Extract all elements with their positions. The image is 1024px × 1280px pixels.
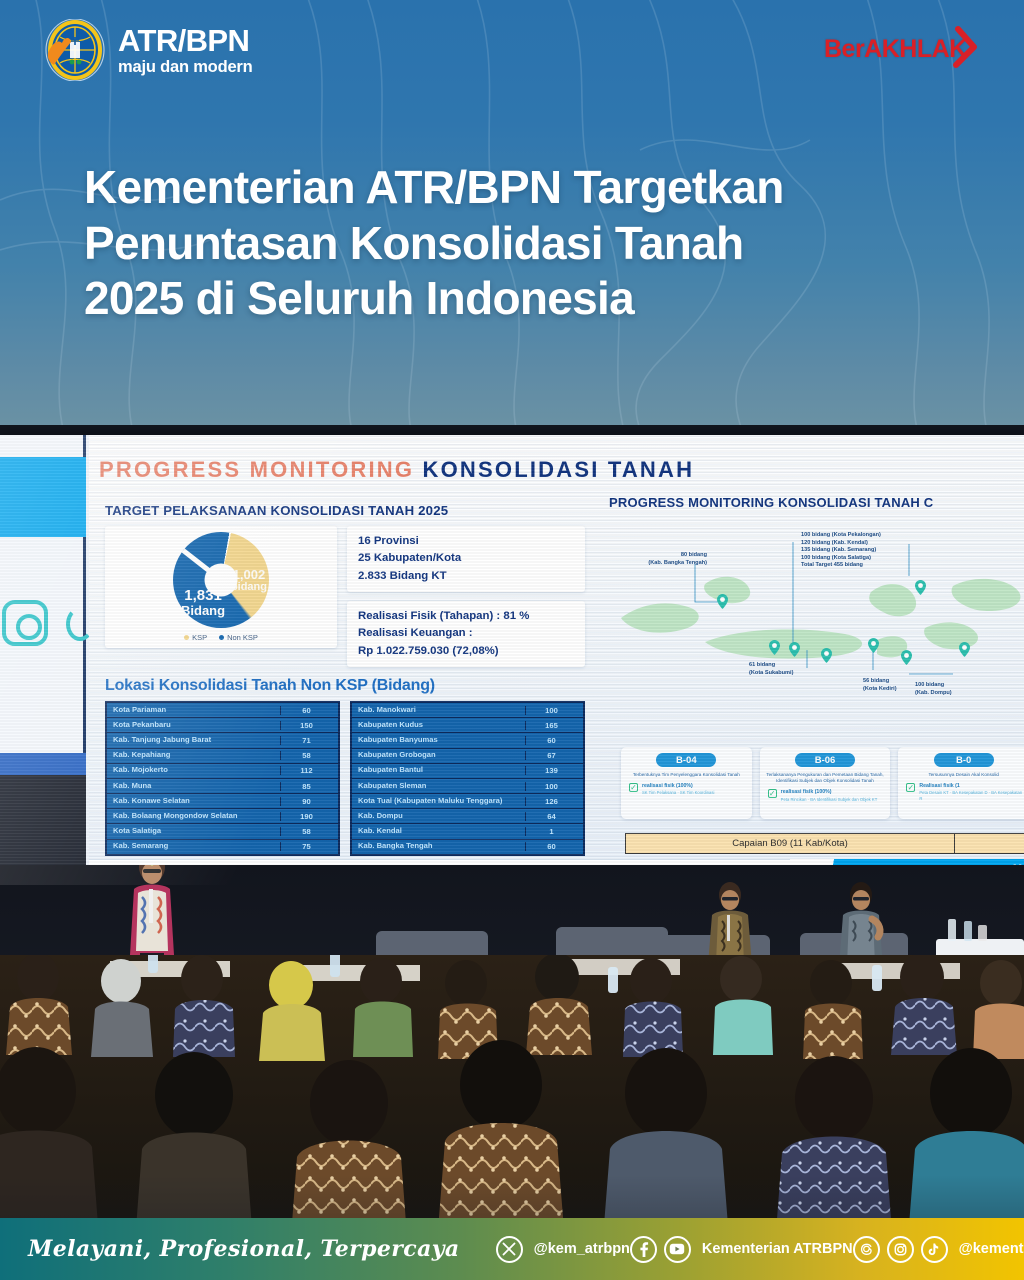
milestone-realisasi-label: realisasi fisik (100%)SK Tim Pelaksana ·… bbox=[642, 783, 714, 796]
target-summary-row: 1,831 Bidang 1,002 bidang KSP Non bbox=[105, 526, 585, 667]
map-callout-line: 56 bidang bbox=[863, 678, 897, 686]
legend-non-ksp: Non KSP bbox=[219, 633, 258, 642]
info-card-realisasi: Realisasi Fisik (Tahapan) : 81 % Realisa… bbox=[347, 601, 585, 667]
table-row: Kabupaten Banyumas60 bbox=[352, 733, 583, 748]
chevron-right-icon bbox=[952, 25, 980, 71]
table-row: Kota Salatiga58 bbox=[107, 824, 338, 839]
map-callout-4: 100 bidang(Kab. Dompu) bbox=[915, 682, 952, 697]
table-row: Kab. Tanjung Jabung Barat71 bbox=[107, 733, 338, 748]
table-cell-value: 139 bbox=[525, 766, 577, 775]
brand-logo: ATR/BPN maju dan modern bbox=[44, 19, 253, 81]
slide-title-part2: KONSOLIDASI TANAH bbox=[423, 457, 695, 482]
table-cell-value: 90 bbox=[280, 797, 332, 806]
page-title: Kementerian ATR/BPN Targetkan Penuntasan… bbox=[84, 160, 964, 327]
coverage-line-2: 25 Kabupaten/Kota bbox=[358, 550, 574, 567]
table-cell-value: 126 bbox=[525, 797, 577, 806]
headline-line-2: Penuntasan Konsolidasi Tanah bbox=[84, 216, 964, 272]
table-row: Kota Tual (Kabupaten Maluku Tenggara)126 bbox=[352, 794, 583, 809]
headline-line-3: 2025 di Seluruh Indonesia bbox=[84, 271, 964, 327]
brand-subtitle: maju dan modern bbox=[118, 59, 253, 76]
target-info-column: 16 Provinsi 25 Kabupaten/Kota 2.833 Bida… bbox=[347, 526, 585, 667]
table-cell-name: Kab. Kendal bbox=[358, 827, 525, 836]
map-callout-line: 61 bidang bbox=[749, 662, 793, 670]
milestone-description: Terlaksananya Pengukuran dan Pemetaan Bi… bbox=[765, 772, 886, 784]
map-callout-line: 100 bidang bbox=[915, 682, 952, 690]
table-cell-name: Kab. Semarang bbox=[113, 842, 280, 851]
table-cell-name: Kota Salatiga bbox=[113, 827, 280, 836]
table-cell-value: 67 bbox=[525, 751, 577, 760]
slide-content: PROGRESS MONITORING KONSOLIDASI TANAH TA… bbox=[89, 435, 1024, 885]
lokasi-table-title: Lokasi Konsolidasi Tanah Non KSP (Bidang… bbox=[105, 677, 585, 695]
table-cell-value: 71 bbox=[280, 736, 332, 745]
lokasi-table-right: Kab. Manokwari100Kabupaten Kudus165Kabup… bbox=[350, 701, 585, 856]
x-handle[interactable]: @kem_atrbpn bbox=[534, 1241, 630, 1257]
table-row: Kab. Dompu64 bbox=[352, 809, 583, 824]
facebook-icon[interactable] bbox=[630, 1236, 657, 1263]
capaian-bar: Capaian B09 (11 Kab/Kota) bbox=[625, 833, 1024, 854]
realisasi-line-1: Realisasi Fisik (Tahapan) : 81 % bbox=[358, 608, 574, 625]
donut-label-nonksp: 1,831 Bidang bbox=[181, 588, 225, 617]
hero-section: ATR/BPN maju dan modern BerAKHLAK Kement… bbox=[0, 0, 1024, 430]
map-panel-title: PROGRESS MONITORING KONSOLIDASI TANAH C bbox=[609, 495, 1024, 510]
brand-title: ATR/BPN bbox=[118, 25, 253, 56]
capaian-box-extra bbox=[955, 833, 1024, 854]
table-row: Kota Pariaman60 bbox=[107, 703, 338, 718]
table-row: Kab. Bangka Tengah60 bbox=[352, 840, 583, 854]
table-cell-name: Kabupaten Grobogan bbox=[358, 751, 525, 760]
table-cell-name: Kab. Konawe Selatan bbox=[113, 797, 280, 806]
social-group-meta: Kementerian ATRBPN bbox=[630, 1236, 853, 1263]
check-icon: ✓ bbox=[629, 783, 638, 792]
donut-chart-card: 1,831 Bidang 1,002 bidang KSP Non bbox=[105, 526, 337, 648]
milestone-status-row: ✓Realisasi fisik (1Peta Desain KT · BA K… bbox=[903, 783, 1024, 802]
milestone-description: Tersusunnya Desain Akal Konsolid bbox=[903, 772, 1024, 778]
milestone-code-chip: B-0 bbox=[934, 753, 994, 767]
social-group-x: @kem_atrbpn bbox=[496, 1236, 630, 1263]
berakhlak-logo: BerAKHLAK bbox=[824, 27, 984, 73]
table-cell-value: 150 bbox=[280, 721, 332, 730]
table-cell-name: Kabupaten Sleman bbox=[358, 782, 525, 791]
map-callout-line: (Kab. Bangka Tengah) bbox=[611, 560, 707, 568]
milestone-realisasi-label: Realisasi fisik (1Peta Desain KT · BA Ke… bbox=[919, 783, 1024, 802]
audience-area bbox=[0, 955, 1024, 1225]
table-cell-value: 100 bbox=[525, 782, 577, 791]
table-cell-name: Kab. Bangka Tengah bbox=[358, 842, 525, 851]
instagram-icon[interactable] bbox=[887, 1236, 914, 1263]
map-callout-2: 61 bidang(Kota Sukabumi) bbox=[749, 662, 793, 677]
lokasi-table-left: Kota Pariaman60Kota Pekanbaru150Kab. Tan… bbox=[105, 701, 340, 856]
donut-unit-ksp: bidang bbox=[231, 581, 267, 593]
headline-line-1: Kementerian ATR/BPN Targetkan bbox=[84, 160, 964, 216]
table-row: Kabupaten Kudus165 bbox=[352, 718, 583, 733]
milestone-code-chip: B-06 bbox=[795, 753, 855, 767]
map-callout-line: 100 bidang (Kota Pekalongan) bbox=[801, 532, 881, 540]
table-row: Kab. Kepahiang58 bbox=[107, 749, 338, 764]
table-cell-value: 60 bbox=[525, 736, 577, 745]
footer-tagline: Melayani, Profesional, Terpercaya bbox=[28, 1236, 460, 1262]
coverage-line-1: 16 Provinsi bbox=[358, 533, 574, 550]
table-cell-value: 75 bbox=[280, 842, 332, 851]
table-row: Kab. Muna85 bbox=[107, 779, 338, 794]
coverage-line-3: 2.833 Bidang KT bbox=[358, 568, 574, 585]
table-row: Kabupaten Bantul139 bbox=[352, 764, 583, 779]
table-cell-value: 58 bbox=[280, 751, 332, 760]
realisasi-line-2: Realisasi Keuangan : bbox=[358, 625, 574, 642]
milestone-card: B-06Terlaksananya Pengukuran dan Pemetaa… bbox=[760, 747, 891, 819]
milestone-card: B-04Terbentuknya Tim Penyelenggara Konso… bbox=[621, 747, 752, 819]
milestone-status-row: ✓realisasi fisik (100%)SK Tim Pelaksana … bbox=[626, 783, 747, 796]
map-callout-line: 120 bidang (Kab. Kendal) bbox=[801, 540, 881, 548]
table-row: Kab. Semarang75 bbox=[107, 840, 338, 854]
slide-title-part1: PROGRESS MONITORING bbox=[99, 457, 423, 482]
map-callout-line: Total Target 455 bidang bbox=[801, 562, 881, 570]
milestone-sub-items: Peta Desain KT · BA Kesepakatan D · BA K… bbox=[919, 790, 1024, 802]
table-cell-name: Kab. Kepahiang bbox=[113, 751, 280, 760]
donut-value-ksp: 1,002 bbox=[231, 568, 267, 582]
table-row: Kab. Kendal1 bbox=[352, 824, 583, 839]
table-row: Kabupaten Sleman100 bbox=[352, 779, 583, 794]
map-callout-0: 80 bidang(Kab. Bangka Tengah) bbox=[611, 552, 707, 567]
check-icon: ✓ bbox=[906, 783, 915, 792]
milestone-card: B-0Tersusunnya Desain Akal Konsolid✓Real… bbox=[898, 747, 1024, 819]
table-row: Kab. Konawe Selatan90 bbox=[107, 794, 338, 809]
milestone-sub-items: SK Tim Pelaksana · SK Tim Koordinasi bbox=[642, 790, 714, 796]
table-cell-value: 64 bbox=[525, 812, 577, 821]
table-cell-name: Kab. Dompu bbox=[358, 812, 525, 821]
event-photo: PROGRESS MONITORING KONSOLIDASI TANAH TA… bbox=[0, 425, 1024, 1225]
milestone-description: Terbentuknya Tim Penyelenggara Konsolida… bbox=[626, 772, 747, 778]
site-header: ATR/BPN maju dan modern BerAKHLAK bbox=[0, 0, 1024, 100]
water-bottles-right bbox=[946, 915, 990, 943]
milestone-status-row: ✓realisasi fisik (100%)Peta Rincikan · B… bbox=[765, 789, 886, 802]
milestone-realisasi-label: realisasi fisik (100%)Peta Rincikan · BA… bbox=[781, 789, 878, 802]
table-cell-name: Kabupaten Bantul bbox=[358, 766, 525, 775]
projection-screen: PROGRESS MONITORING KONSOLIDASI TANAH TA… bbox=[0, 435, 1024, 885]
poster-canvas: ATR/BPN maju dan modern BerAKHLAK Kement… bbox=[0, 0, 1024, 1280]
table-row: Kabupaten Grobogan67 bbox=[352, 749, 583, 764]
adjacent-slide-edge bbox=[0, 435, 86, 885]
table-row: Kab. Mojokerto112 bbox=[107, 764, 338, 779]
sliver-band-bottom bbox=[0, 753, 86, 775]
table-cell-value: 58 bbox=[280, 827, 332, 836]
slide-right-column: PROGRESS MONITORING KONSOLIDASI TANAH C bbox=[609, 495, 1024, 727]
site-footer: Melayani, Profesional, Terpercaya @kem_a… bbox=[0, 1218, 1024, 1280]
slide-title: PROGRESS MONITORING KONSOLIDASI TANAH bbox=[99, 457, 999, 483]
threads-icon[interactable] bbox=[853, 1236, 880, 1263]
instagram-icon bbox=[2, 600, 48, 646]
donut-label-ksp: 1,002 bidang bbox=[231, 568, 267, 593]
map-callout-1: 100 bidang (Kota Pekalongan)120 bidang (… bbox=[801, 532, 881, 570]
table-cell-value: 1 bbox=[525, 827, 577, 836]
map-callout-line: (Kota Kediri) bbox=[863, 686, 897, 694]
info-card-coverage: 16 Provinsi 25 Kabupaten/Kota 2.833 Bida… bbox=[347, 526, 585, 592]
table-cell-name: Kab. Bolaang Mongondow Selatan bbox=[113, 812, 280, 821]
map-callout-line: 135 bidang (Kab. Semarang) bbox=[801, 547, 881, 555]
map-callout-line: 80 bidang bbox=[611, 552, 707, 560]
table-cell-name: Kab. Tanjung Jabung Barat bbox=[113, 736, 280, 745]
donut-value-nonksp: 1,831 bbox=[181, 588, 225, 604]
map-callout-line: (Kota Sukabumi) bbox=[749, 670, 793, 678]
table-cell-value: 112 bbox=[280, 766, 332, 775]
donut-chart: 1,831 Bidang 1,002 bidang bbox=[173, 532, 269, 628]
table-cell-value: 100 bbox=[525, 706, 577, 715]
table-cell-value: 190 bbox=[280, 812, 332, 821]
berakhlak-label: BerAKHLAK bbox=[824, 35, 967, 64]
table-cell-value: 60 bbox=[280, 706, 332, 715]
target-section-title: TARGET PELAKSANAAN KONSOLIDASI TANAH 202… bbox=[105, 503, 585, 518]
table-row: Kab. Bolaang Mongondow Selatan190 bbox=[107, 809, 338, 824]
donut-unit-nonksp: Bidang bbox=[181, 603, 225, 618]
x-twitter-icon[interactable] bbox=[496, 1236, 523, 1263]
table-row: Kab. Manokwari100 bbox=[352, 703, 583, 718]
lokasi-tables: Kota Pariaman60Kota Pekanbaru150Kab. Tan… bbox=[105, 701, 585, 856]
table-cell-name: Kab. Mojokerto bbox=[113, 766, 280, 775]
table-cell-name: Kab. Manokwari bbox=[358, 706, 525, 715]
meta-handle[interactable]: Kementerian ATRBPN bbox=[702, 1241, 853, 1257]
atr-bpn-emblem-icon bbox=[44, 19, 106, 81]
check-icon: ✓ bbox=[768, 789, 777, 798]
indonesia-map: 80 bidang(Kab. Bangka Tengah) 100 bidang… bbox=[609, 522, 1024, 727]
table-cell-value: 165 bbox=[525, 721, 577, 730]
milestone-sub-items: Peta Rincikan · BA Identifikasi Subjek d… bbox=[781, 797, 878, 803]
table-row: Kota Pekanbaru150 bbox=[107, 718, 338, 733]
table-cell-name: Kabupaten Kudus bbox=[358, 721, 525, 730]
slide-left-column: TARGET PELAKSANAAN KONSOLIDASI TANAH 202… bbox=[105, 503, 585, 856]
legend-ksp: KSP bbox=[184, 633, 207, 642]
table-cell-value: 85 bbox=[280, 782, 332, 791]
table-cell-name: Kota Pariaman bbox=[113, 706, 280, 715]
youtube-icon[interactable] bbox=[664, 1236, 691, 1263]
milestone-code-chip: B-04 bbox=[656, 753, 716, 767]
table-cell-name: Kota Pekanbaru bbox=[113, 721, 280, 730]
map-callout-line: (Kab. Dompu) bbox=[915, 690, 952, 698]
realisasi-line-3: Rp 1.022.759.030 (72,08%) bbox=[358, 643, 574, 660]
map-callout-line: 100 bidang (Kota Salatiga) bbox=[801, 555, 881, 563]
social-group-misc: @kementerian.atrbpn bbox=[853, 1236, 1024, 1263]
donut-legend: KSP Non KSP bbox=[184, 633, 258, 642]
table-cell-name: Kabupaten Banyumas bbox=[358, 736, 525, 745]
tiktok-handle[interactable]: @kementerian.atrbpn bbox=[959, 1241, 1024, 1257]
table-cell-name: Kab. Muna bbox=[113, 782, 280, 791]
sliver-band-top bbox=[0, 457, 86, 537]
map-callout-3: 56 bidang(Kota Kediri) bbox=[863, 678, 897, 693]
milestone-cards: B-04Terbentuknya Tim Penyelenggara Konso… bbox=[621, 747, 1024, 819]
table-cell-value: 60 bbox=[525, 842, 577, 851]
table-cell-name: Kota Tual (Kabupaten Maluku Tenggara) bbox=[358, 797, 525, 806]
tiktok-icon[interactable] bbox=[921, 1236, 948, 1263]
capaian-box-main: Capaian B09 (11 Kab/Kota) bbox=[625, 833, 955, 854]
